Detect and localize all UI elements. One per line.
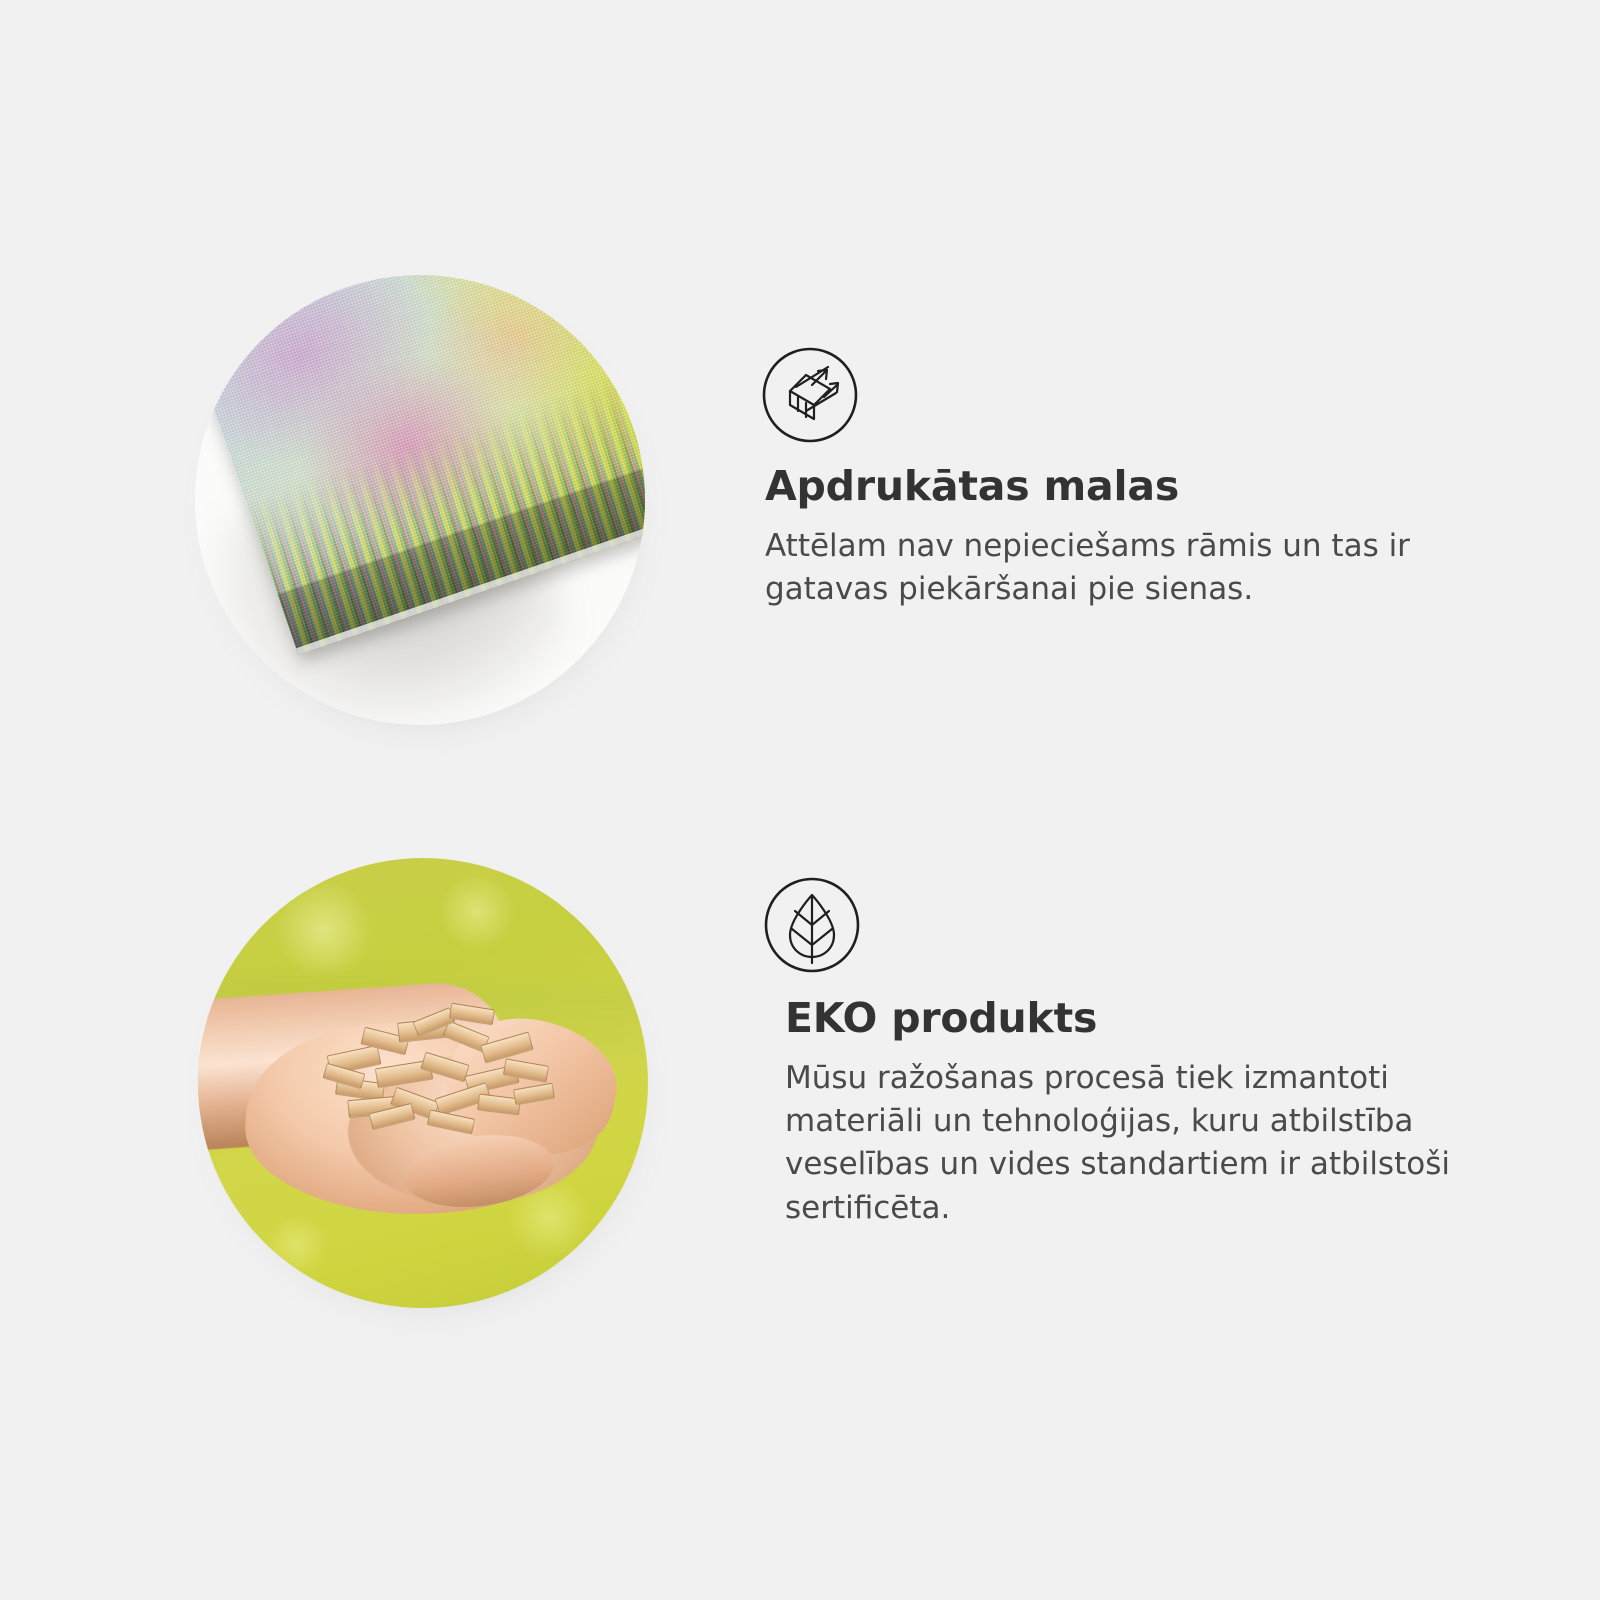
product-features-page: Apdrukātas malas Attēlam nav nepieciešam… <box>0 0 1600 1600</box>
eco-photo-scene <box>198 858 648 1308</box>
canvas-wrap-arrows-icon <box>760 345 860 445</box>
feature-text-printed-edges: Apdrukātas malas Attēlam nav nepieciešam… <box>765 463 1485 611</box>
feature-description: Mūsu ražošanas procesā tiek izmantoti ma… <box>785 1057 1505 1231</box>
feature-block-eco-product: EKO produkts Mūsu ražošanas procesā tiek… <box>0 800 1600 1600</box>
wood-chip <box>449 1003 495 1026</box>
feature-text-eco-product: EKO produkts Mūsu ražošanas procesā tiek… <box>785 995 1505 1230</box>
wood-chips-pile <box>318 998 568 1128</box>
feature-title: Apdrukātas malas <box>765 463 1485 511</box>
feature-description: Attēlam nav nepieciešams rāmis un tas ir… <box>765 525 1485 612</box>
canvas-print-corner-photo <box>195 275 645 725</box>
photo-clip <box>198 858 648 1308</box>
wood-chip <box>513 1083 555 1106</box>
leaf-icon <box>762 875 862 975</box>
canvas-print-scene <box>195 275 645 725</box>
feature-block-printed-edges: Apdrukātas malas Attēlam nav nepieciešam… <box>0 0 1600 800</box>
feature-title: EKO produkts <box>785 995 1505 1043</box>
hands-holding-wood-chips-photo <box>198 858 648 1308</box>
photo-clip <box>195 275 645 725</box>
